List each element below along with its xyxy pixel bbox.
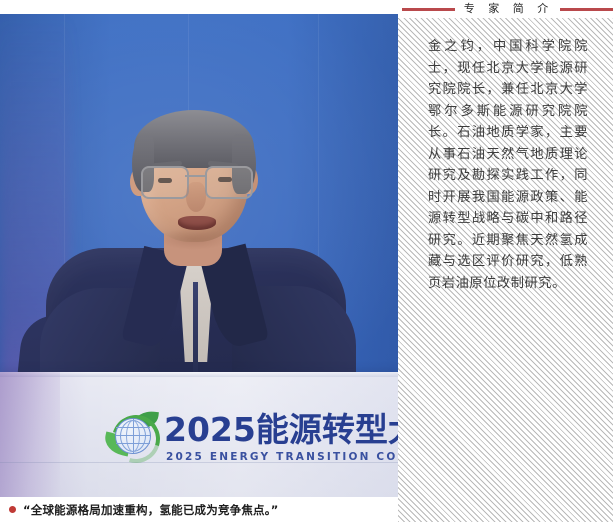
page-root: 2025能源转型大会 2025 ENERGY TRANSITION CONFER… bbox=[0, 0, 613, 522]
photo-column: 2025能源转型大会 2025 ENERGY TRANSITION CONFER… bbox=[0, 0, 398, 497]
photo-caption: “全球能源格局加速重构，氢能已成为竞争焦点。” bbox=[0, 497, 398, 522]
bio-panel: 专 家 简 介 金之钧，中国科学院院士，现任北京大学能源研究院院长，兼任北京大学… bbox=[398, 0, 613, 522]
podium-side-face bbox=[0, 372, 60, 497]
speaker-photo: 2025能源转型大会 2025 ENERGY TRANSITION CONFER… bbox=[0, 14, 398, 497]
speaker-chin-shadow bbox=[158, 228, 230, 250]
speaker-nose bbox=[186, 182, 206, 212]
header-rule-right bbox=[560, 8, 613, 11]
globe-meridian bbox=[126, 420, 140, 452]
bio-panel-title: 专 家 简 介 bbox=[455, 2, 561, 16]
eyeglass-lens bbox=[205, 166, 253, 199]
globe-leaf-icon bbox=[104, 412, 156, 462]
header-rule-left bbox=[402, 8, 455, 11]
eyeglass-bridge bbox=[185, 175, 205, 177]
bio-text: 金之钧，中国科学院院士，现任北京大学能源研究院院长，兼任北京大学鄂尔多斯能源研究… bbox=[428, 36, 588, 294]
globe-parallel bbox=[116, 443, 150, 444]
caption-text: “全球能源格局加速重构，氢能已成为竞争焦点。” bbox=[23, 502, 278, 518]
conference-banner: 2025能源转型大会 2025 ENERGY TRANSITION CONFER… bbox=[104, 410, 398, 468]
banner-title-cn: 2025能源转型大会 bbox=[164, 410, 398, 450]
globe-parallel bbox=[116, 435, 150, 436]
eyeglass-lens bbox=[141, 166, 189, 199]
globe-parallel bbox=[116, 427, 150, 428]
banner-title-en: 2025 ENERGY TRANSITION CONFERENCE bbox=[166, 451, 398, 463]
bullet-icon bbox=[9, 506, 16, 513]
globe-icon bbox=[115, 418, 151, 454]
bio-panel-header: 专 家 简 介 bbox=[398, 0, 613, 18]
